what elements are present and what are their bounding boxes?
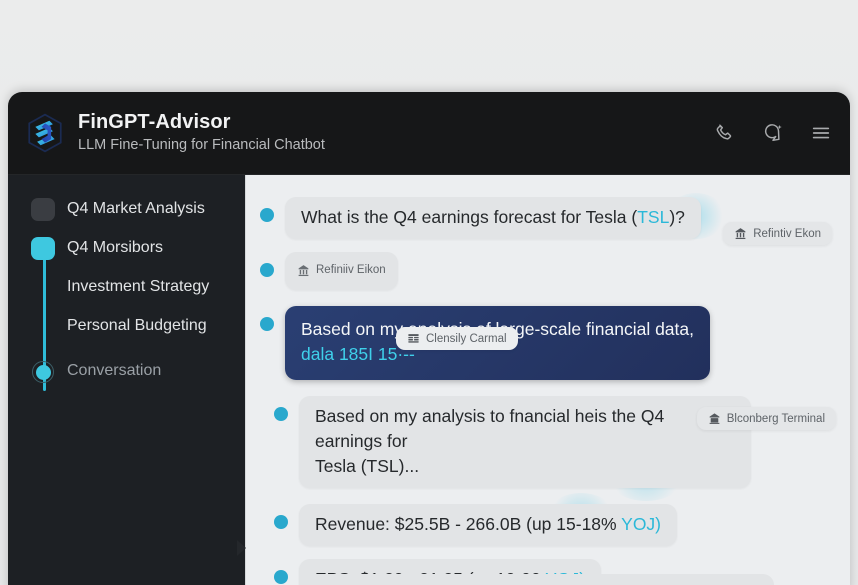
source-chip-clensily-carmal[interactable]: Clensily Carmal [396, 327, 518, 350]
building-icon [708, 412, 721, 425]
source-chip-blconberg-terminal[interactable]: Blconberg Terminal [697, 407, 836, 430]
chat-message: Revenue: $25.5B - 266.0B (up 15-18% YOJ) [260, 504, 830, 546]
chat-panel: What is the Q4 earnings forecast for Tes… [246, 175, 850, 585]
menu-icon[interactable] [810, 122, 832, 144]
call-icon[interactable] [714, 122, 736, 144]
message-bullet-icon [274, 570, 288, 584]
message-bullet-icon [260, 263, 274, 277]
message-bullet-icon [260, 208, 274, 222]
message-text-part: What is the Q4 earnings forecast for Tes… [301, 207, 637, 227]
message-text-part: TSL [637, 207, 669, 227]
sidebar: Q4 Market Analysis Q4 Morsibors Investme… [8, 175, 246, 585]
page-root: FinGPT-Advisor LLM Fine-Tuning for Finan… [0, 0, 858, 585]
source-chip-label: Blconberg Terminal [727, 413, 825, 425]
source-chip-refintiv-ekon[interactable]: Refintiv Ekon [723, 222, 832, 245]
header-title-block: FinGPT-Advisor LLM Fine-Tuning for Finan… [78, 111, 325, 155]
sidebar-item-label: Personal Budgeting [67, 317, 207, 335]
sidebar-collapse-arrow-icon[interactable] [237, 540, 246, 556]
app-subtitle: LLM Fine-Tuning for Financial Chatbot [78, 135, 325, 155]
message-text-part: )? [669, 207, 685, 227]
message-text-part: YOJ) [621, 514, 661, 534]
sidebar-item-investment-strategy[interactable]: Investment Strategy [8, 267, 245, 306]
source-chip-label: Refintiv Ekon [753, 228, 821, 240]
message-bullet-icon [274, 515, 288, 529]
message-text-part: Revenue: $25.5B - 266.0B (up 15-18% [315, 514, 621, 534]
message-bubble[interactable]: Refiniiv Eikon [285, 252, 398, 290]
checkbox-unchecked-icon[interactable] [30, 196, 56, 222]
message-line: Tesla (TSL)... [315, 454, 735, 479]
message-bubble[interactable]: Revenue: $25.5B - 266.0B (up 15-18% YOJ) [299, 504, 677, 546]
app-title: FinGPT-Advisor [78, 111, 325, 134]
app-body: Q4 Market Analysis Q4 Morsibors Investme… [8, 175, 850, 585]
app-window: FinGPT-Advisor LLM Fine-Tuning for Finan… [8, 92, 850, 585]
table-icon [407, 332, 420, 345]
header-actions [714, 122, 832, 144]
sidebar-item-label: Investment Strategy [67, 278, 209, 296]
sidebar-item-label: Conversation [67, 362, 161, 380]
source-chip-label: Clensily Carmal [426, 333, 507, 345]
chat-message: Based on my analysis of large-scale fina… [260, 306, 830, 380]
sidebar-item-q4-morsibors[interactable]: Q4 Morsibors [8, 228, 245, 267]
message-line: Based on my analysis to fnancial heis th… [315, 404, 735, 454]
app-header: FinGPT-Advisor LLM Fine-Tuning for Finan… [8, 92, 850, 175]
source-chip[interactable]: Refiniiv Eikon [297, 258, 386, 283]
message-bubble[interactable]: Based on my analysis to fnancial heis th… [299, 396, 751, 488]
sidebar-item-label: Q4 Morsibors [67, 239, 163, 257]
message-bubble-partial[interactable] [299, 574, 774, 585]
new-chat-sparkle-icon[interactable] [762, 122, 784, 144]
bank-icon [734, 227, 747, 240]
sidebar-item-q4-market-analysis[interactable]: Q4 Market Analysis [8, 189, 245, 228]
message-bubble[interactable]: What is the Q4 earnings forecast for Tes… [285, 197, 701, 239]
fingpt-hexagon-logo-icon [24, 112, 66, 154]
message-bullet-icon [274, 407, 288, 421]
checkbox-checked-icon[interactable] [30, 235, 56, 261]
source-chip-label: Refiniiv Eikon [316, 258, 386, 283]
sidebar-item-conversation[interactable]: Conversation [8, 351, 245, 390]
chat-message: Refiniiv Eikon [260, 252, 830, 290]
message-bullet-icon [260, 317, 274, 331]
bank-icon [297, 264, 310, 277]
radio-selected-icon[interactable] [30, 358, 56, 384]
sidebar-item-personal-budgeting[interactable]: Personal Budgeting [8, 306, 245, 345]
sidebar-item-label: Q4 Market Analysis [67, 200, 205, 218]
